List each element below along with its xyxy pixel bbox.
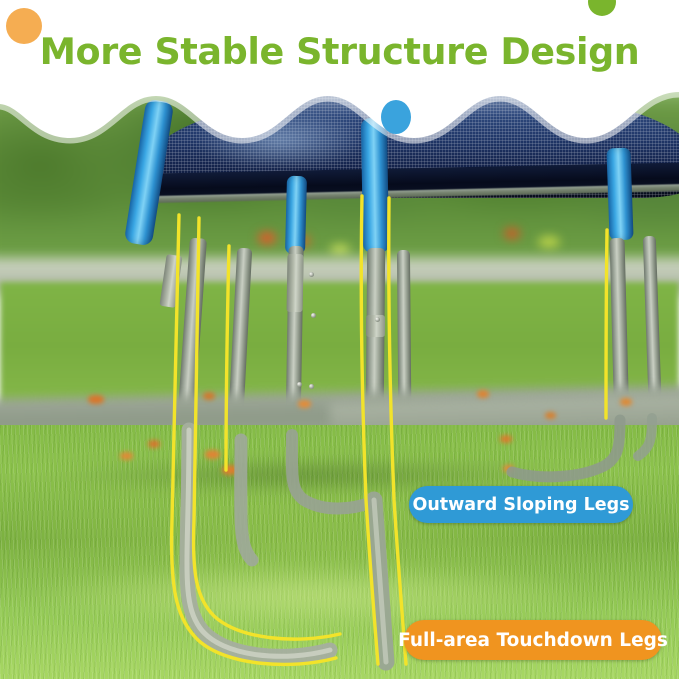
fallen-leaf bbox=[148, 440, 160, 448]
fallen-leaf bbox=[222, 465, 238, 475]
page-title: More Stable Structure Design bbox=[0, 30, 679, 73]
fallen-leaf bbox=[545, 412, 556, 419]
fallen-leaf bbox=[477, 390, 489, 398]
leg-screw bbox=[375, 317, 380, 322]
fallen-leaf bbox=[298, 400, 311, 408]
fallen-leaf bbox=[205, 450, 220, 459]
product-feature-banner: More Stable Structure Design Outward Slo… bbox=[0, 0, 679, 679]
leg-coupler bbox=[286, 254, 303, 312]
blue-dot-icon bbox=[381, 100, 411, 134]
callout-full-area-touchdown-legs: Full-area Touchdown Legs bbox=[404, 620, 662, 660]
pole-sleeve-right bbox=[606, 148, 633, 241]
fallen-leaf bbox=[203, 392, 215, 400]
hedge-flower bbox=[538, 236, 560, 248]
hedge-flower bbox=[258, 232, 276, 244]
leg-screw bbox=[297, 382, 302, 387]
hedge-flower bbox=[330, 244, 350, 255]
fallen-leaf bbox=[120, 452, 133, 460]
hedge-flower bbox=[504, 228, 520, 239]
leg-screw bbox=[311, 313, 316, 318]
fallen-leaf bbox=[503, 465, 514, 472]
wave-divider bbox=[0, 0, 679, 160]
fallen-leaf bbox=[88, 395, 104, 404]
fallen-leaf bbox=[500, 435, 512, 443]
pole-sleeve-middle bbox=[285, 176, 307, 254]
leg-screw bbox=[309, 272, 314, 277]
callout-outward-sloping-legs: Outward Sloping Legs bbox=[409, 486, 633, 523]
leg-screw bbox=[309, 384, 314, 389]
fallen-leaf bbox=[620, 398, 632, 406]
